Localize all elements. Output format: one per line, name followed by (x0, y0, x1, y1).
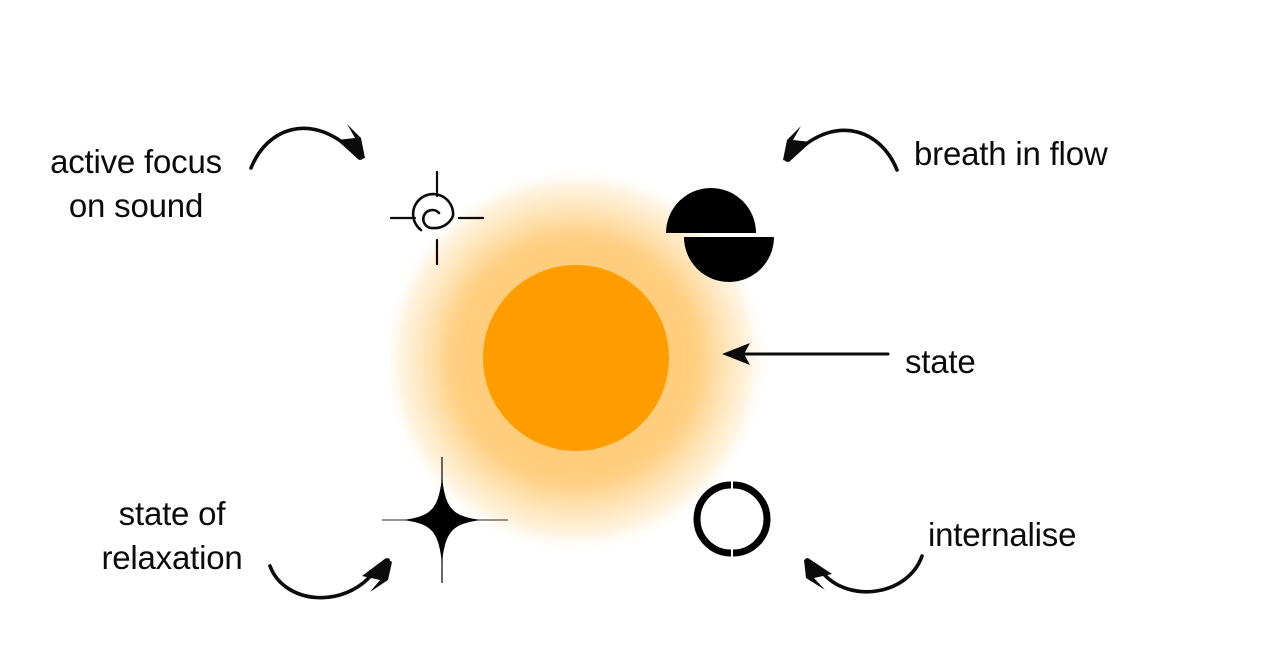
arrow-middle-state (720, 334, 890, 374)
label-breath-in-flow: breath in flow (914, 132, 1107, 176)
label-state: state (905, 340, 976, 384)
arrow-bottom-right (805, 548, 930, 610)
diagram-canvas: active focus on sound breath in flow sta… (0, 0, 1274, 668)
arrow-bottom-left (262, 552, 397, 614)
arrow-top-left (243, 108, 373, 180)
broken-ring-icon (690, 478, 772, 560)
label-active-focus-on-sound: active focus on sound (26, 140, 246, 227)
spiral-target-icon (377, 158, 497, 278)
arrow-top-right (780, 112, 905, 184)
offset-half-discs-icon (660, 165, 780, 275)
sun-core-circle (483, 265, 669, 451)
label-internalise: internalise (928, 513, 1076, 557)
label-state-of-relaxation: state of relaxation (62, 492, 282, 579)
four-point-sparkle-icon (380, 455, 510, 585)
